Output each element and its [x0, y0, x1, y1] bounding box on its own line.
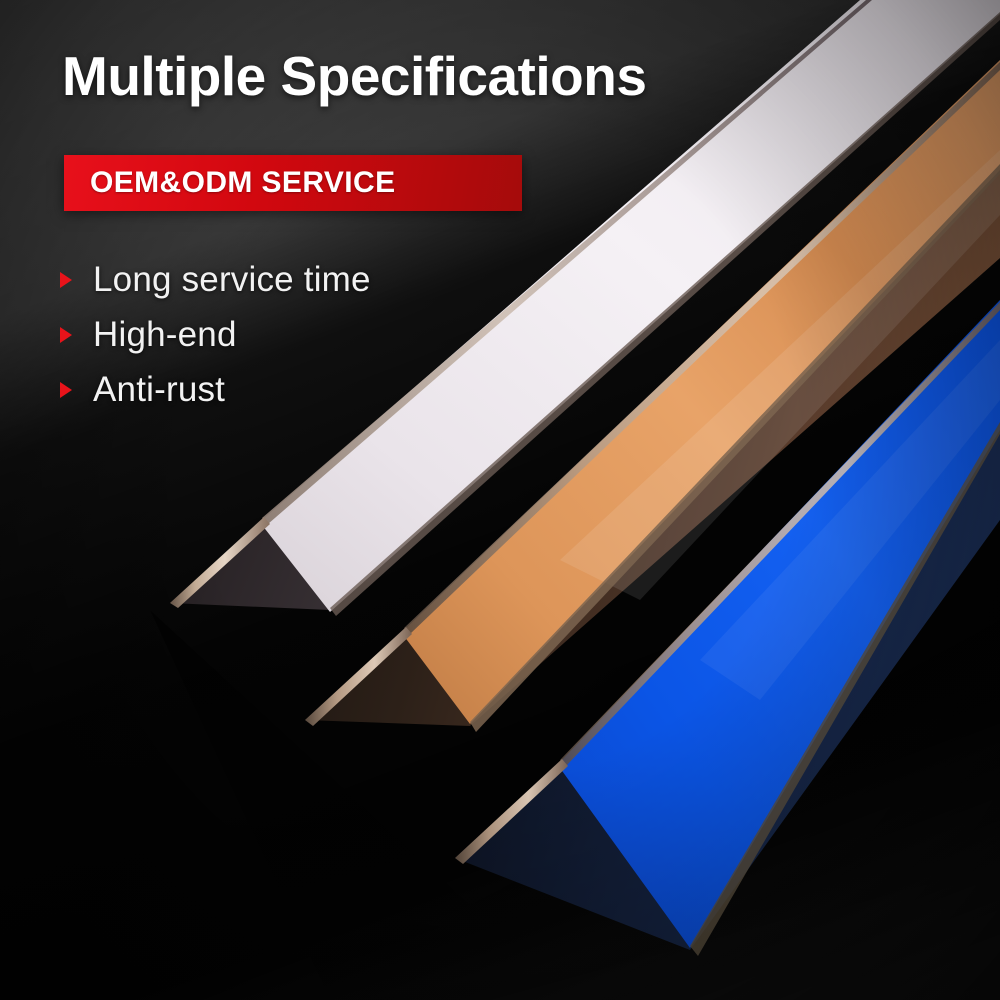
feature-label: Anti-rust — [93, 370, 225, 410]
triangle-right-icon — [60, 272, 72, 288]
feature-item: Anti-rust — [60, 362, 520, 417]
feature-list: Long service time High-end Anti-rust — [60, 252, 520, 417]
feature-item: High-end — [60, 307, 520, 362]
triangle-right-icon — [60, 382, 72, 398]
oem-odm-badge: OEM&ODM SERVICE — [64, 155, 522, 211]
page-title: Multiple Specifications — [62, 44, 646, 108]
background-vignette — [0, 0, 1000, 1000]
triangle-right-icon — [60, 327, 72, 343]
product-banner: Multiple Specifications OEM&ODM SERVICE … — [0, 0, 1000, 1000]
feature-label: Long service time — [93, 260, 371, 300]
oem-odm-badge-label: OEM&ODM SERVICE — [64, 166, 396, 200]
feature-item: Long service time — [60, 252, 520, 307]
feature-label: High-end — [93, 315, 237, 355]
